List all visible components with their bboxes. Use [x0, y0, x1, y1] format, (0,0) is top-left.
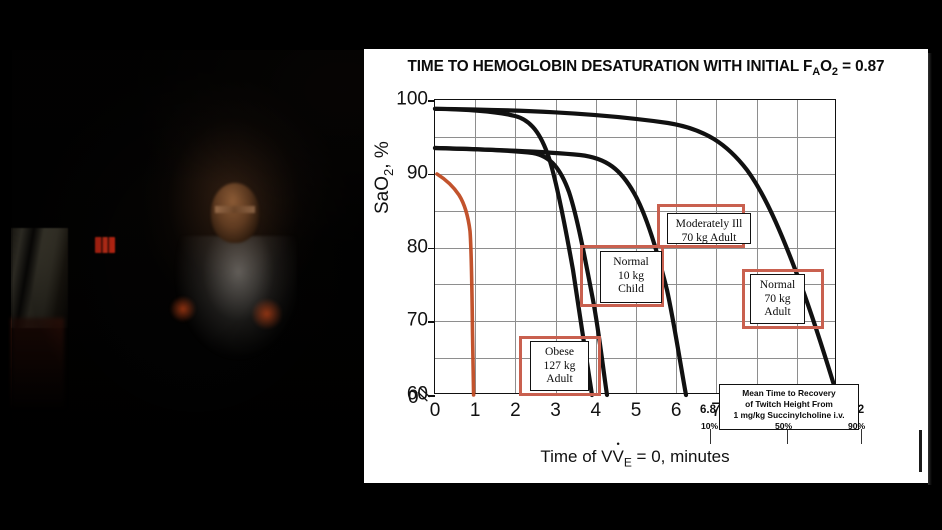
callout-line-1: Moderately Ill	[673, 217, 745, 231]
y-tick-60: 60	[407, 384, 428, 406]
callout-normal-10kg-child-text: Normal 10 kg Child	[600, 251, 662, 303]
x-tick-6: 6	[671, 400, 682, 422]
x-axis-title-tail: = 0, minutes	[632, 447, 730, 466]
title-text-main: TIME TO HEMOGLOBIN DESATURATION WITH INI…	[408, 58, 813, 75]
x-tick-2: 2	[510, 400, 521, 422]
annotation-curve-orange	[437, 174, 474, 395]
y-axis-title: SaO2, %	[372, 141, 396, 214]
recovery-tick-10	[710, 429, 711, 444]
speaker-head	[211, 183, 259, 243]
y-axis-title-main: SaO	[372, 176, 393, 214]
video-pane[interactable]	[0, 0, 364, 530]
succ-line-3: 1 mg/kg Succinylcholine i.v.	[720, 410, 858, 421]
succ-line-1: Mean Time to Recovery	[720, 388, 858, 399]
recovery-pct-90: 90%	[848, 421, 865, 431]
y-tick-70: 70	[407, 310, 428, 332]
y-axis-title-tail: , %	[372, 141, 393, 168]
y-tick-mark-90	[428, 174, 435, 176]
callout-line-2: 127 kg	[536, 359, 583, 373]
callout-line-2: 70 kg	[756, 292, 799, 306]
y-tick-80: 80	[407, 236, 428, 258]
title-subscript-a: A	[812, 66, 820, 78]
x-tick-5: 5	[631, 400, 642, 422]
y-tick-mark-60	[428, 395, 435, 397]
screen: TIME TO HEMOGLOBIN DESATURATION WITH INI…	[0, 0, 942, 530]
x-tick-4: 4	[591, 400, 602, 422]
speaker-hand-right	[252, 298, 282, 330]
callout-line-3: Adult	[536, 372, 583, 386]
x-axis-title: Time of VVE = 0, minutes	[434, 447, 836, 469]
x-axis-title-vdot: V	[612, 447, 623, 466]
y-tick-mark-100	[428, 100, 435, 102]
video-frame	[12, 50, 364, 482]
slide-shadow	[928, 53, 932, 485]
x-axis-title-pre: Time of V	[540, 447, 612, 466]
speaker-hand-left	[170, 296, 196, 322]
x-tick-0: 0	[430, 400, 441, 422]
succ-line-2: of Twitch Height From	[720, 399, 858, 410]
exit-sign-icon	[95, 237, 115, 253]
callout-moderately-ill[interactable]: Moderately Ill 70 kg Adult	[657, 204, 745, 248]
x-tick-1: 1	[470, 400, 481, 422]
callout-moderately-ill-text: Moderately Ill 70 kg Adult	[667, 213, 751, 244]
x-tick-3: 3	[550, 400, 561, 422]
y-tick-mark-80	[428, 248, 435, 250]
x-tick-6-8: 6.8	[700, 404, 716, 416]
x-axis-title-sub: E	[624, 455, 632, 469]
plot-area: 100 90 80 70 60 0 1 2 3 4 5 6 7 8 9 10 6…	[434, 99, 836, 394]
callout-line-3: Adult	[756, 305, 799, 319]
y-tick-100: 100	[396, 89, 428, 111]
y-tick-90: 90	[407, 162, 428, 184]
title-text-o: O	[820, 58, 832, 75]
y-tick-mark-70	[428, 321, 435, 323]
title-text-value: = 0.87	[838, 58, 885, 75]
wall-glow	[12, 318, 64, 408]
callout-line-3: Child	[606, 282, 656, 296]
callout-line-1: Normal	[756, 278, 799, 292]
glasses-icon	[215, 206, 255, 213]
callout-normal-70kg-adult[interactable]: Normal 70 kg Adult	[742, 269, 824, 329]
callout-obese-127kg-adult[interactable]: Obese 127 kg Adult	[519, 336, 601, 396]
callout-normal-70kg-adult-text: Normal 70 kg Adult	[750, 274, 805, 324]
doorway-light	[12, 228, 68, 328]
recovery-tick-50	[787, 429, 788, 444]
recovery-tick-90	[861, 429, 862, 444]
y-axis-title-sub: 2	[381, 169, 396, 176]
recovery-pct-10: 10%	[701, 421, 718, 431]
callout-normal-10kg-child[interactable]: Normal 10 kg Child	[580, 245, 664, 307]
right-edge-marker	[919, 430, 922, 472]
callout-line-2: 10 kg	[606, 269, 656, 283]
callout-line-2: 70 kg Adult	[673, 231, 745, 245]
callout-line-1: Obese	[536, 345, 583, 359]
callout-obese-127kg-adult-text: Obese 127 kg Adult	[530, 341, 589, 391]
recovery-pct-50: 50%	[775, 421, 792, 431]
callout-line-1: Normal	[606, 255, 656, 269]
page-title: TIME TO HEMOGLOBIN DESATURATION WITH INI…	[364, 58, 928, 78]
